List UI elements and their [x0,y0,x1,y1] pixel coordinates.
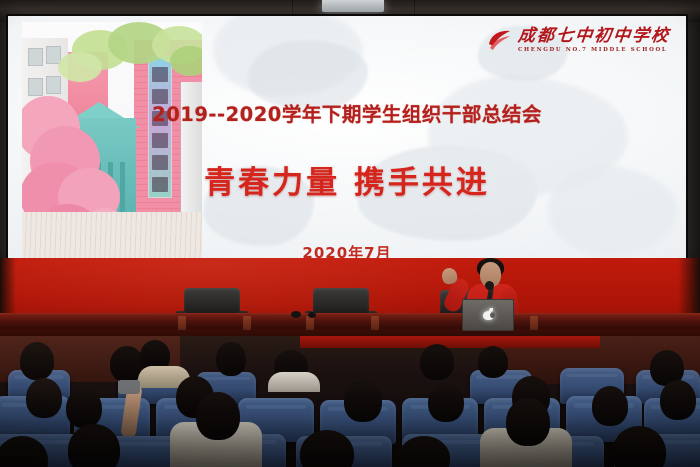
audience-head [506,398,550,446]
ceiling-light-panel [322,0,384,12]
illustration-foliage [170,46,202,76]
illustration-sign-char [152,133,168,148]
stage-table-leg [530,316,538,330]
school-gate-illustration [22,22,202,258]
audience-head [660,380,696,420]
illustration-foliage [58,52,102,82]
microphone-head [485,281,494,290]
school-logo: 成都七中初中学校 CHENGDU NO.7 MIDDLE SCHOOL [487,28,670,54]
illustration-window [28,78,43,96]
audience-head [26,378,62,418]
desk-microphone-base [291,311,301,318]
illustration-sign-char [152,67,168,82]
audience-head [478,346,508,378]
apple-icon [483,308,494,320]
school-emblem-icon [487,28,513,54]
slide-title: 2019--2020学年下期学生组织干部总结会 [8,98,686,127]
audience-head [216,342,246,376]
audience-head [344,380,382,422]
school-name-en: CHENGDU NO.7 MIDDLE SCHOOL [518,48,670,53]
led-screen: 成都七中初中学校 CHENGDU NO.7 MIDDLE SCHOOL 2019… [6,14,688,264]
illustration-window [46,76,61,94]
school-name-cn: 成都七中初中学校 [517,28,671,45]
stage-table-leg [371,316,379,330]
audience-head [66,388,102,428]
slide-subtitle: 青春力量 携手共进 [8,157,686,202]
audience-head [20,342,54,380]
audience-head [68,424,120,467]
stage-table [0,316,700,329]
smartphone [118,380,140,394]
audience-head [196,392,240,440]
audience-area [0,336,700,467]
stage-table-leg [178,316,186,330]
audience-head [428,382,464,422]
audience-head [420,344,454,380]
school-logo-text: 成都七中初中学校 CHENGDU NO.7 MIDDLE SCHOOL [518,28,670,53]
desk-microphone-base [308,312,316,318]
stage-table-leg [243,316,251,330]
audience-head [592,386,628,426]
auditorium-photo: 成都七中初中学校 CHENGDU NO.7 MIDDLE SCHOOL 2019… [0,0,700,467]
illustration-window [28,48,43,66]
audience-shoulders [268,372,320,392]
apple-icon-bite [490,312,495,318]
stage-table-leg [306,316,314,330]
slide-canvas: 成都七中初中学校 CHENGDU NO.7 MIDDLE SCHOOL 2019… [8,16,686,262]
stage-front-panel [300,336,600,348]
